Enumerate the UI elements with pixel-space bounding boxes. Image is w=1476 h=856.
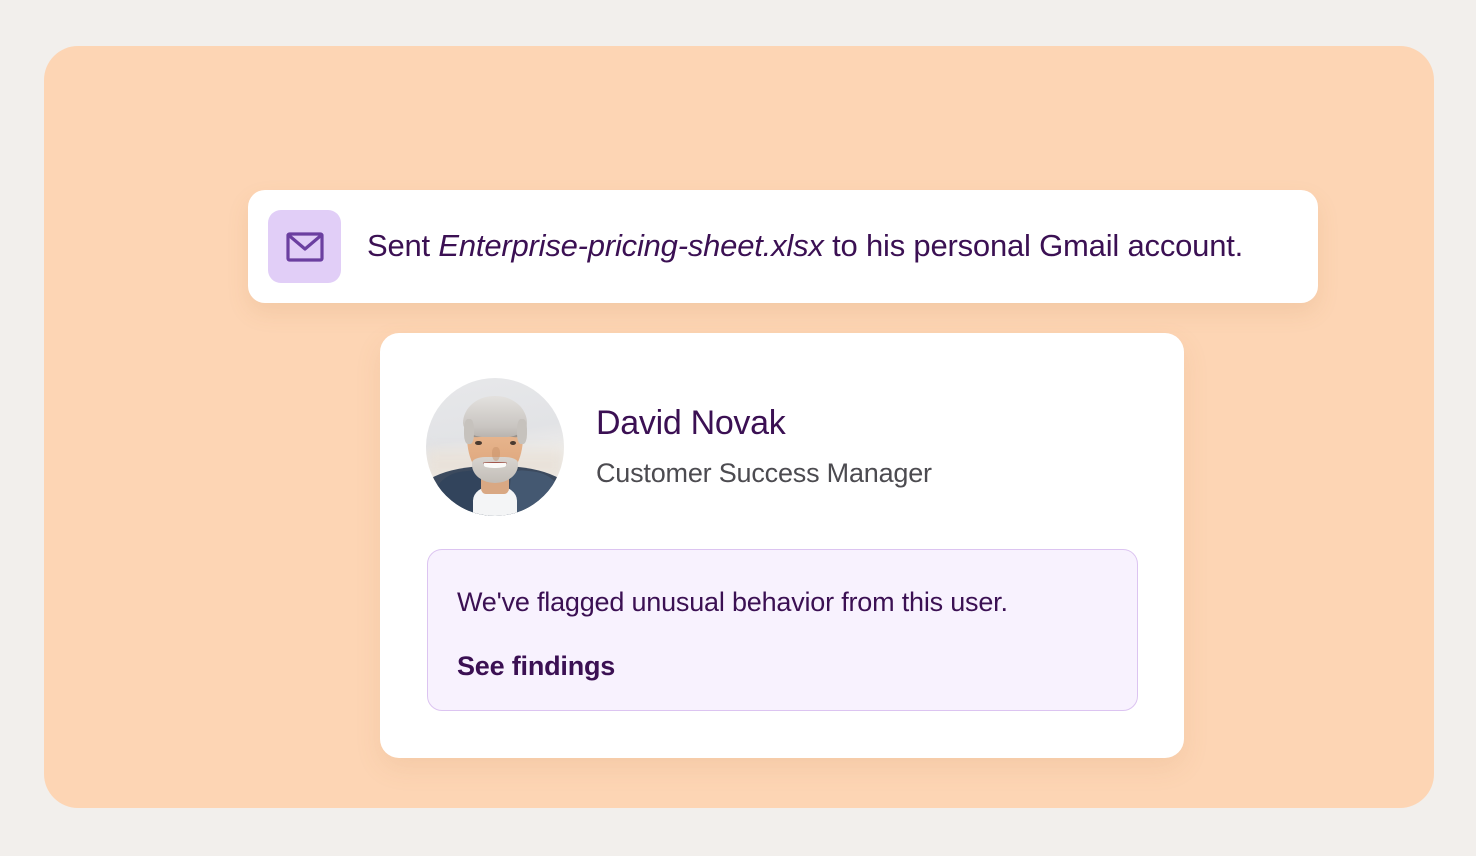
callout-message: We've flagged unusual behavior from this… bbox=[457, 587, 1008, 618]
envelope-icon-tile bbox=[268, 210, 341, 283]
see-findings-link[interactable]: See findings bbox=[457, 651, 615, 682]
alert-card: Sent Enterprise-pricing-sheet.xlsx to hi… bbox=[248, 190, 1318, 303]
profile-header: David Novak Customer Success Manager bbox=[426, 378, 932, 516]
alert-text-prefix: Sent bbox=[367, 228, 438, 263]
alert-text-suffix: to his personal Gmail account. bbox=[824, 228, 1243, 263]
alert-message: Sent Enterprise-pricing-sheet.xlsx to hi… bbox=[367, 228, 1243, 265]
profile-card: David Novak Customer Success Manager We'… bbox=[380, 333, 1184, 758]
alert-filename: Enterprise-pricing-sheet.xlsx bbox=[438, 228, 823, 263]
profile-details: David Novak Customer Success Manager bbox=[596, 405, 932, 489]
envelope-icon bbox=[286, 232, 324, 262]
profile-role: Customer Success Manager bbox=[596, 459, 932, 489]
peach-stage-panel: Sent Enterprise-pricing-sheet.xlsx to hi… bbox=[44, 46, 1434, 808]
profile-name: David Novak bbox=[596, 405, 932, 442]
flagged-behavior-callout: We've flagged unusual behavior from this… bbox=[427, 549, 1138, 711]
avatar bbox=[426, 378, 564, 516]
